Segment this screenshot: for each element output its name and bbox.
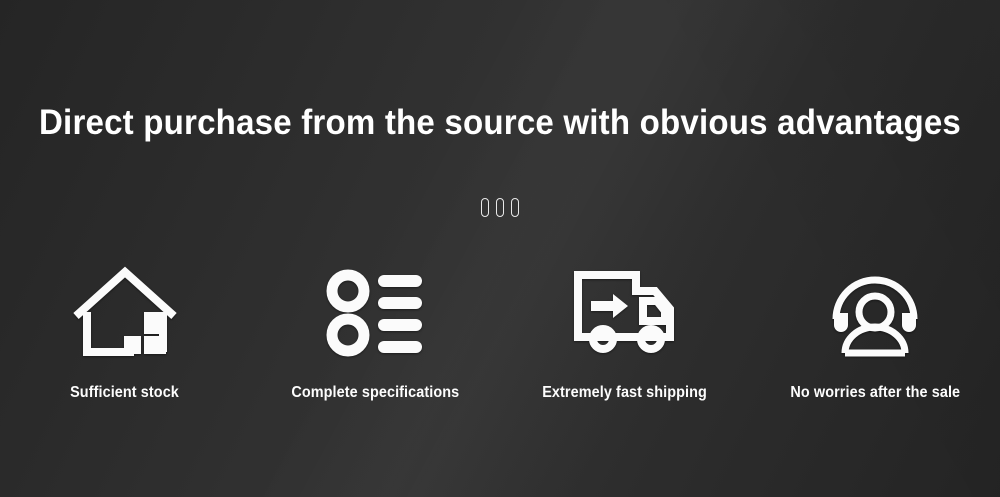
feature-label: Sufficient stock (71, 384, 180, 402)
feature-list: Sufficient stock Complet (0, 262, 1000, 402)
specifications-list-icon (323, 262, 427, 362)
feature-item-extremely-fast-shipping: Extremely fast shipping (500, 262, 750, 402)
feature-label: Complete specifications (291, 384, 459, 402)
feature-item-complete-specifications: Complete specifications (250, 262, 500, 402)
divider-pill-1 (481, 198, 489, 217)
page-title: Direct purchase from the source with obv… (28, 103, 973, 143)
divider-pill-3 (511, 198, 519, 217)
three-pill-divider (0, 198, 1000, 217)
feature-item-sufficient-stock: Sufficient stock (0, 262, 250, 402)
feature-item-no-worries-after-sale: No worries after the sale (750, 262, 1000, 402)
headset-support-agent-icon (827, 262, 923, 362)
feature-label: No worries after the sale (790, 384, 960, 402)
divider-pill-2 (496, 198, 504, 217)
warehouse-house-boxes-icon (72, 262, 178, 362)
delivery-truck-arrow-icon (573, 262, 677, 362)
feature-label: Extremely fast shipping (543, 384, 708, 402)
promo-banner: Direct purchase from the source with obv… (0, 0, 1000, 497)
